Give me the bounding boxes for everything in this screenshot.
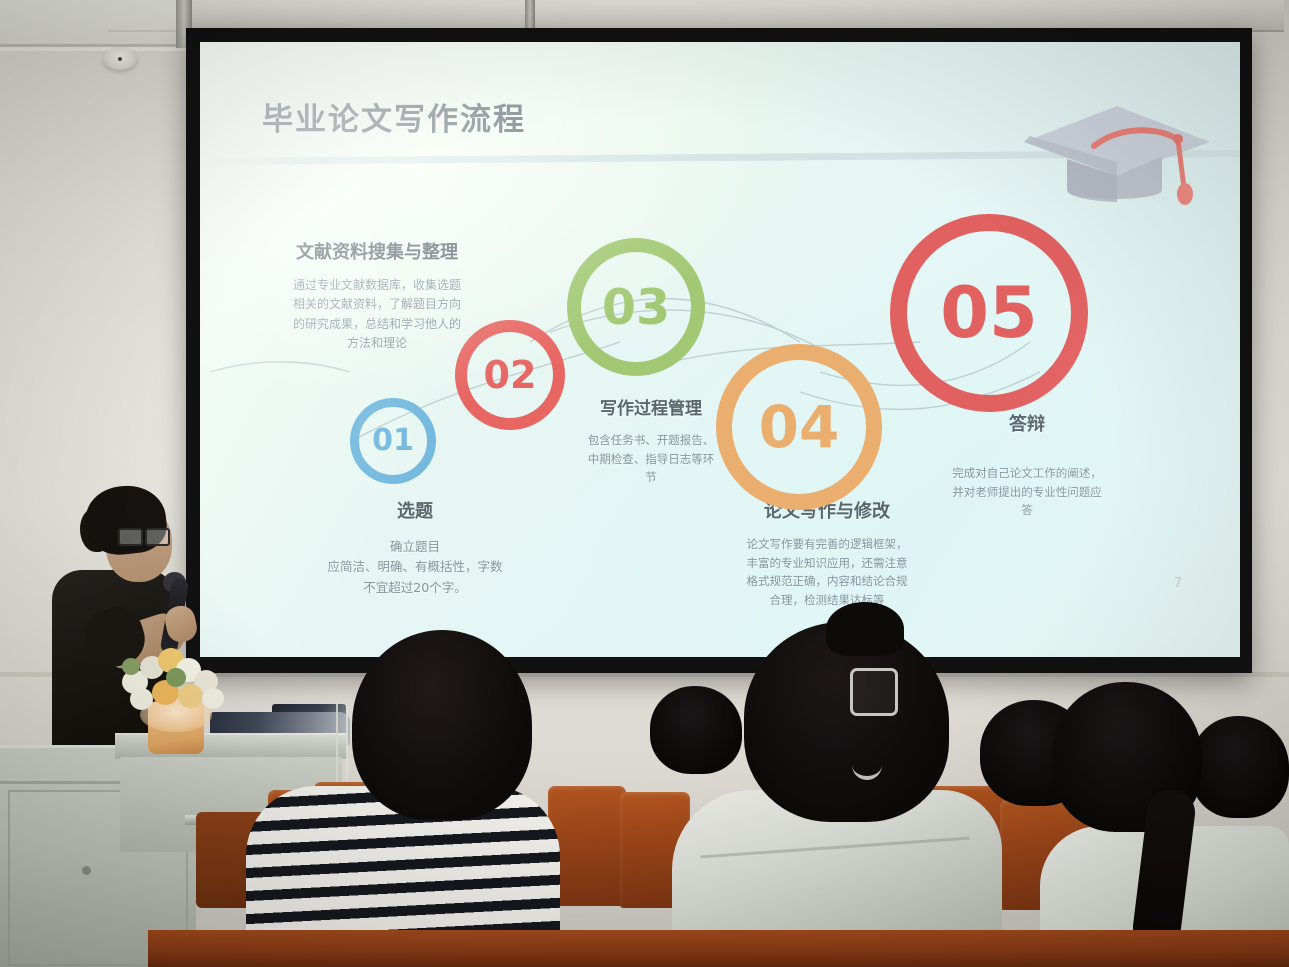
projection-screen-surface: 毕业论文写作流程 文献资料搜集与整理 通过专业文献数据库，收集选题 相关 xyxy=(200,42,1240,657)
step-heading-01: 选题 xyxy=(296,497,534,523)
step-heading-02: 文献资料搜集与整理 xyxy=(248,238,506,264)
step-body-05: 完成对自己论文工作的阐述， 并对老师提出的专业性问题应 答 xyxy=(916,464,1138,520)
smoke-detector-icon xyxy=(103,48,137,70)
projection-screen: 毕业论文写作流程 文献资料搜集与整理 通过专业文献数据库，收集选题 相关 xyxy=(186,28,1252,673)
flower xyxy=(202,688,224,709)
slide-page-number: 7 xyxy=(1174,576,1182,591)
step-block-02: 文献资料搜集与整理 通过专业文献数据库，收集选题 相关的文献资料，了解题目方向 … xyxy=(248,238,506,354)
student-head-striped xyxy=(352,630,532,820)
flower xyxy=(178,684,203,708)
step-body-04: 论文写作要有完善的逻辑框架， 丰富的专业知识应用，还需注意 格式规范正确，内容和… xyxy=(720,535,934,610)
step-circle-04: 04 xyxy=(716,344,882,510)
step-number-05: 05 xyxy=(940,278,1037,348)
leaf xyxy=(122,658,140,675)
step-circle-05: 05 xyxy=(890,214,1088,412)
step-circle-03: 03 xyxy=(567,238,705,376)
graduation-cap-icon xyxy=(1012,84,1222,209)
flower-bouquet xyxy=(118,640,236,755)
step-body-01: 确立题目 应简洁、明确、有概括性，字数 不宜超过20个字。 xyxy=(296,537,534,598)
cabinet-knob xyxy=(82,866,91,875)
student-head xyxy=(650,686,742,774)
step-number-03: 03 xyxy=(602,283,670,332)
glasses-icon xyxy=(118,528,170,543)
student-hair-bun xyxy=(826,602,904,656)
hair-clip-icon xyxy=(850,668,898,716)
step-heading-05: 答辩 xyxy=(916,410,1138,436)
step-circle-01: 01 xyxy=(350,398,436,484)
step-block-04: 论文写作与修改 论文写作要有完善的逻辑框架， 丰富的专业知识应用，还需注意 格式… xyxy=(720,497,934,610)
step-number-02: 02 xyxy=(484,356,537,394)
step-number-01: 01 xyxy=(372,426,414,456)
step-block-05: 答辩 完成对自己论文工作的阐述， 并对老师提出的专业性问题应 答 xyxy=(916,410,1138,520)
presentation-slide: 毕业论文写作流程 文献资料搜集与整理 通过专业文献数据库，收集选题 相关 xyxy=(200,42,1240,657)
step-circle-02: 02 xyxy=(455,320,565,430)
front-seat-row xyxy=(148,930,1289,967)
lecture-hall-photo: 毕业论文写作流程 文献资料搜集与整理 通过专业文献数据库，收集选题 相关 xyxy=(0,0,1289,967)
student-head xyxy=(1190,716,1289,818)
flower xyxy=(130,688,153,710)
slide-title: 毕业论文写作流程 xyxy=(262,94,526,139)
step-block-01: 选题 确立题目 应简洁、明确、有概括性，字数 不宜超过20个字。 xyxy=(296,497,534,598)
step-number-04: 04 xyxy=(759,398,840,456)
leaf xyxy=(166,668,186,687)
